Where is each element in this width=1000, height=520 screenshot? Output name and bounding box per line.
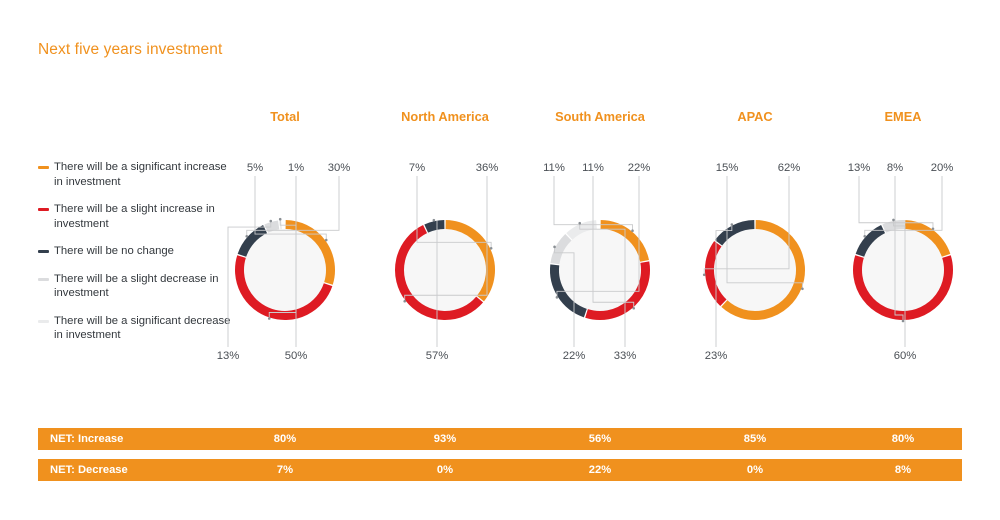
donut-svg-2 xyxy=(520,160,680,365)
donut-value-label: 50% xyxy=(256,350,336,362)
donut-svg-1 xyxy=(365,160,525,365)
donut-segment xyxy=(884,225,905,229)
page-title: Next five years investment xyxy=(38,41,222,59)
donut-value-label: 23% xyxy=(676,350,756,362)
net-row-value: 93% xyxy=(400,428,490,450)
net-row-label: NET: Increase xyxy=(50,428,123,450)
column-header-3: APAC xyxy=(675,109,835,124)
net-row-value: 80% xyxy=(240,428,330,450)
net-row-value: 22% xyxy=(555,459,645,481)
donut-value-label: 60% xyxy=(865,350,945,362)
legend-label: There will be no change xyxy=(54,244,174,259)
donut-chart-4 xyxy=(823,160,983,365)
donut-chart-2 xyxy=(520,160,680,365)
net-row-value: 80% xyxy=(858,428,948,450)
column-header-4: EMEA xyxy=(823,109,983,124)
donut-value-label: 7% xyxy=(377,162,457,174)
donut-svg-3 xyxy=(675,160,835,365)
donut-value-label: 62% xyxy=(749,162,829,174)
donut-value-label: 20% xyxy=(902,162,982,174)
column-header-1: North America xyxy=(365,109,525,124)
column-header-2: South America xyxy=(520,109,680,124)
net-row-value: 85% xyxy=(710,428,800,450)
legend-swatch-significant_decrease xyxy=(38,320,49,323)
donut-chart-0 xyxy=(205,160,365,365)
donut-value-label: 57% xyxy=(397,350,477,362)
legend-swatch-slight_decrease xyxy=(38,278,49,281)
net-row-value: 0% xyxy=(710,459,800,481)
donut-value-label: 33% xyxy=(585,350,665,362)
donut-inner-fill xyxy=(559,229,641,311)
donut-inner-fill xyxy=(862,229,944,311)
donut-inner-fill xyxy=(404,229,486,311)
donut-segment xyxy=(426,225,444,229)
donut-inner-fill xyxy=(714,229,796,311)
legend-swatch-slight_increase xyxy=(38,208,49,211)
donut-svg-4 xyxy=(823,160,983,365)
net-row-value: 7% xyxy=(240,459,330,481)
donut-value-label: 22% xyxy=(599,162,679,174)
column-header-0: Total xyxy=(205,109,365,124)
donut-segment xyxy=(266,225,278,229)
net-row-value: 0% xyxy=(400,459,490,481)
legend-swatch-significant_increase xyxy=(38,166,49,169)
donut-chart-1 xyxy=(365,160,525,365)
net-row-0: NET: Increase80%93%56%85%80% xyxy=(38,428,962,450)
donut-chart-3 xyxy=(675,160,835,365)
donut-inner-fill xyxy=(244,229,326,311)
net-row-value: 56% xyxy=(555,428,645,450)
net-row-label: NET: Decrease xyxy=(50,459,128,481)
net-row-value: 8% xyxy=(858,459,948,481)
chart-page: Next five years investment There will be… xyxy=(0,0,1000,520)
legend-swatch-no_change xyxy=(38,250,49,253)
donut-svg-0 xyxy=(205,160,365,365)
net-row-1: NET: Decrease7%0%22%0%8% xyxy=(38,459,962,481)
